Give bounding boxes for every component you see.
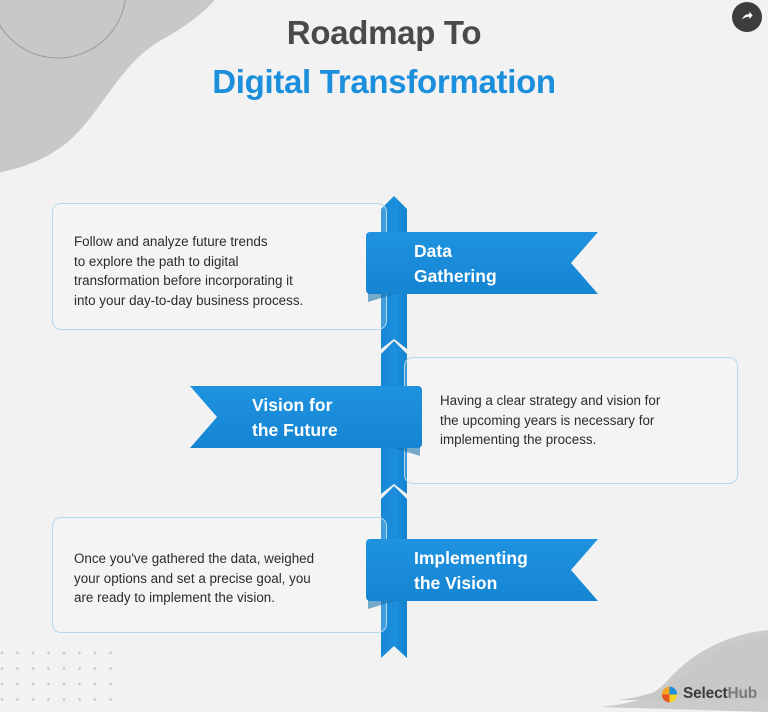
page-title-line-2: Digital Transformation [0,63,768,102]
selecthub-logo: SelectHub [661,685,757,703]
logo-text-primary: Select [683,685,727,702]
pinwheel-logo-icon [661,686,678,703]
page-header: Roadmap To Digital Transformation [0,14,768,102]
step-2-description-text: Having a clear strategy and vision for t… [440,391,730,450]
decor-dot-grid [0,641,118,709]
step-3-description-text: Once you've gathered the data, weighed y… [74,549,379,608]
step-3-banner-label: Implementing the Vision [414,546,528,596]
logo-text-secondary: Hub [727,685,757,702]
infographic-canvas: Roadmap To Digital Transformation Follow… [0,0,768,712]
page-title-line-1: Roadmap To [0,14,768,53]
step-3-banner[interactable]: Implementing the Vision [366,539,598,601]
step-2-banner-label: Vision for the Future [252,393,338,443]
step-1-description-text: Follow and analyze future trends to expl… [74,232,374,310]
step-2-banner[interactable]: Vision for the Future [190,386,422,448]
step-1-banner-label: Data Gathering [414,239,497,289]
logo-text: SelectHub [683,685,757,703]
step-1-banner[interactable]: Data Gathering [366,232,598,294]
